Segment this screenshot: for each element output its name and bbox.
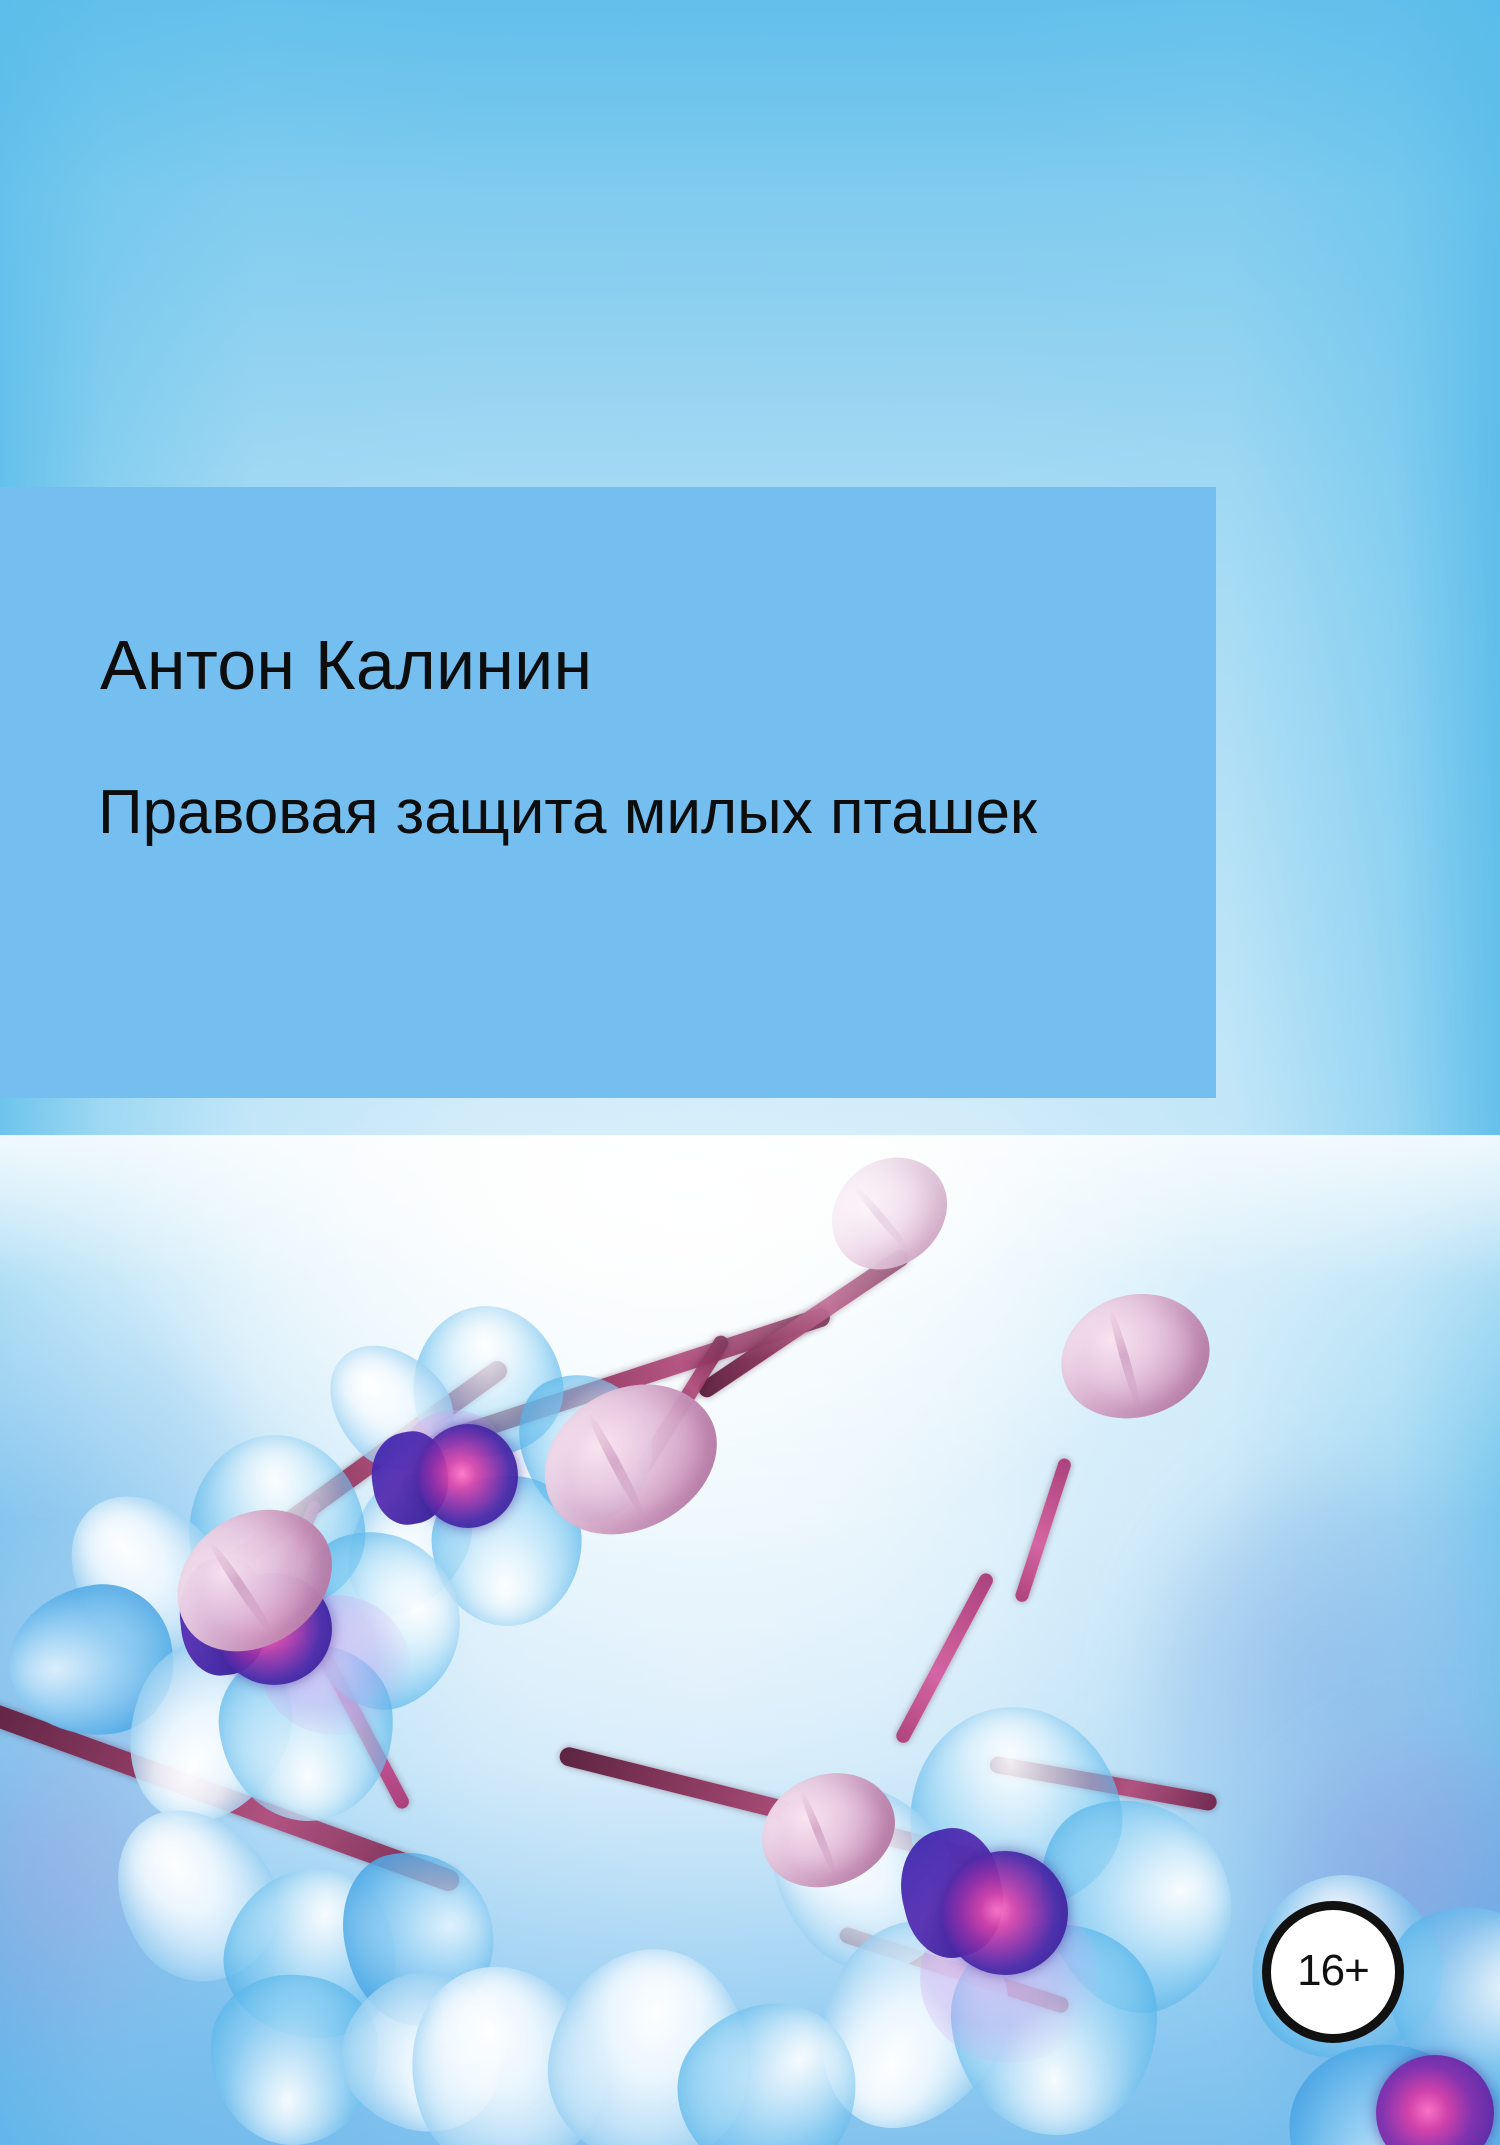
orchid-bud-seam [584, 1411, 650, 1523]
age-rating-label: 16+ [1297, 1946, 1369, 1996]
orchid-bud-seam [851, 1183, 914, 1256]
author-name: Антон Калинин [100, 630, 592, 700]
orchid-bud-seam [206, 1538, 278, 1638]
orchid-bud-seam [1107, 1309, 1144, 1411]
orchid-lip [942, 1851, 1068, 1975]
orchid-flower [420, 1925, 820, 2145]
age-rating-badge: 16+ [1262, 1901, 1404, 2043]
book-title: Правовая защита милых пташек [98, 782, 1037, 844]
book-cover: Антон Калинин Правовая защита милых пташ… [0, 0, 1500, 2145]
orchid-bud-seam [797, 1789, 840, 1879]
